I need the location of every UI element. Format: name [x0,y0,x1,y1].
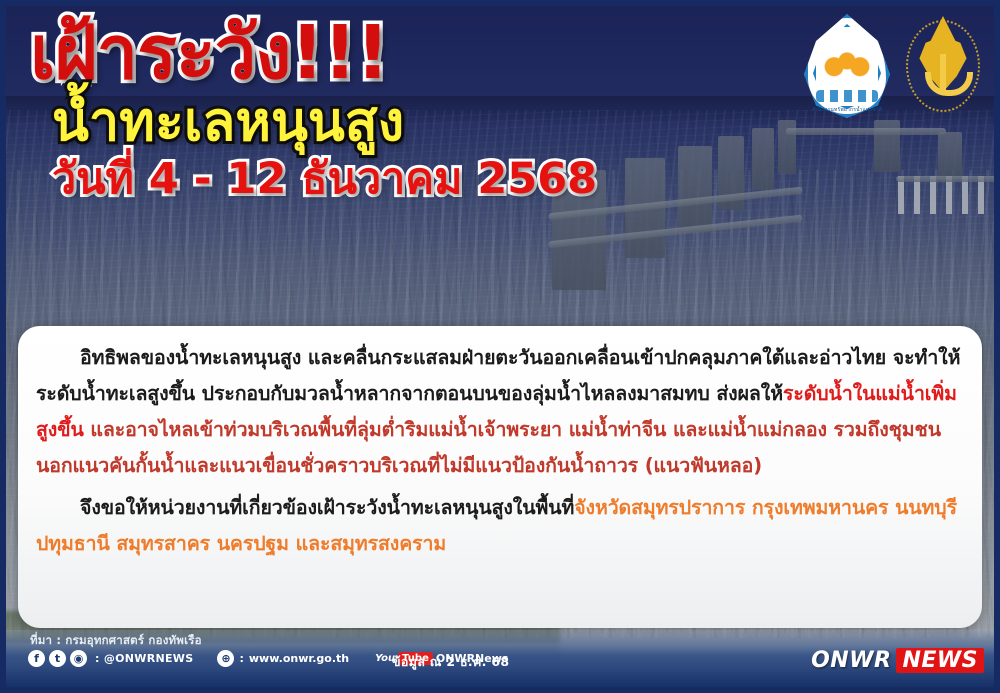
pier-piling [752,128,774,190]
hydrographic-department-logo [900,14,986,118]
social-handle: : @ONWRNEWS [95,652,193,665]
data-as-of-date: ข้อมูล ณ 2 ธ.ค. 68 [392,652,509,672]
headline-date-range: วันที่ 4 - 12 ธันวาคม 2568 [52,157,650,202]
flood-warning-poster: สำนักงานทรัพยากรน้ำแห่งชาติ เฝ้าระวัง!!!… [0,0,1000,693]
body-paragraph-1: อิทธิพลของน้ำทะเลหนุนสูง และคลื่นกระแสลม… [36,340,964,484]
footer-bar: ที่มา : กรมอุทกศาสตร์ กองทัพเรือ f t ◉ :… [0,630,1000,693]
pier-piling [678,146,712,232]
jetty-post [938,132,962,180]
facebook-icon[interactable]: f [28,650,45,667]
onwr-logo-caption: สำนักงานทรัพยากรน้ำแห่งชาติ [804,106,890,114]
twitter-icon[interactable]: t [49,650,66,667]
organisation-logos: สำนักงานทรัพยากรน้ำแห่งชาติ [804,14,986,118]
wave-lines-icon [816,90,878,102]
headline-warning: เฝ้าระวัง!!! [30,16,650,91]
onwr-news-brand: ONWR NEWS [811,648,984,673]
jetty-rail [786,128,946,135]
onwr-water-drop-logo: สำนักงานทรัพยากรน้ำแห่งชาติ [804,14,890,118]
brand-news-badge: NEWS [896,648,984,673]
announcement-card: อิทธิพลของน้ำทะเลหนุนสูง และคลื่นกระแสลม… [18,326,982,628]
headline-subject: น้ำทะเลหนุนสูง [52,93,650,150]
website-separator: : [239,652,243,665]
source-credit: ที่มา : กรมอุทกศาสตร์ กองทัพเรือ [30,632,202,650]
fence-top-rail [896,176,1000,182]
body-p1-tail: และอาจไหลเข้าท่วมบริเวณพื้นที่ลุ่มต่ำริม… [36,418,941,477]
body-p2-lead: จึงขอให้หน่วยงานที่เกี่ยวข้องเฝ้าระวังน้… [80,496,574,519]
globe-icon[interactable]: ⊕ [217,650,234,667]
emblem-text-ring [906,20,980,112]
brand-onwr-text: ONWR [811,648,891,673]
website-group[interactable]: ⊕ : www.onwr.go.th [217,650,349,667]
body-paragraph-2: จึงขอให้หน่วยงานที่เกี่ยวข้องเฝ้าระวังน้… [36,490,964,562]
garuda-emblem-icon [824,48,870,82]
website-url[interactable]: www.onwr.go.th [249,652,349,665]
instagram-icon[interactable]: ◉ [70,650,87,667]
headline-block: เฝ้าระวัง!!! น้ำทะเลหนุนสูง วันที่ 4 - 1… [30,16,650,202]
